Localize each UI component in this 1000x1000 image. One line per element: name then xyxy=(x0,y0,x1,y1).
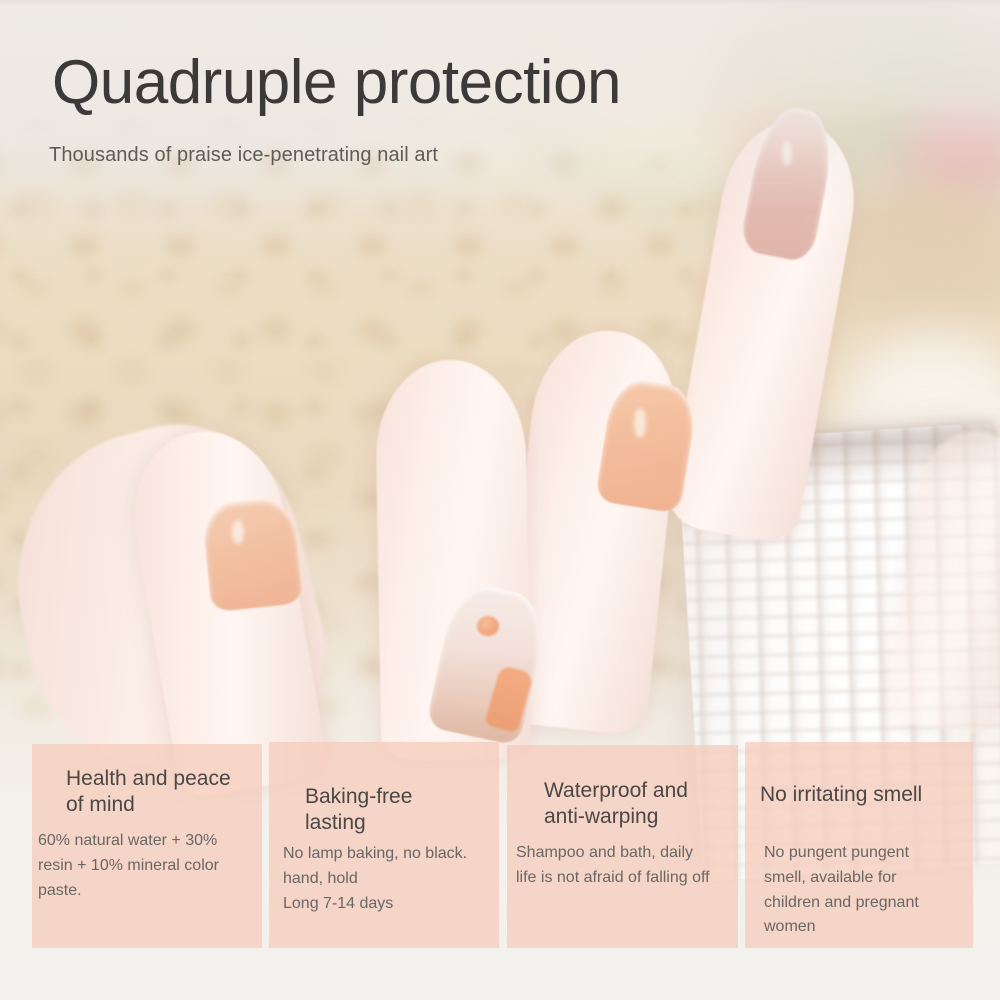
feature-card-title: Baking-free lasting xyxy=(305,784,412,837)
feature-card-title: Health and peace of mind xyxy=(66,766,231,819)
nail-art-dot xyxy=(477,616,499,636)
feature-card-health[interactable]: Health and peace of mind 60% natural wat… xyxy=(32,744,262,948)
page-subtitle: Thousands of praise ice-penetrating nail… xyxy=(49,144,438,167)
nail-highlight-middle xyxy=(634,408,646,438)
feature-card-waterproof[interactable]: Waterproof and anti-warping Shampoo and … xyxy=(507,745,738,948)
feature-card-title: Waterproof and anti-warping xyxy=(544,778,688,831)
feature-card-body: 60% natural water + 30% resin + 10% mine… xyxy=(38,829,219,903)
nail-highlight-pinky xyxy=(232,520,244,544)
top-edge-line xyxy=(0,0,1000,6)
feature-card-title: No irritating smell xyxy=(760,782,922,808)
feature-card-body: Shampoo and bath, daily life is not afra… xyxy=(516,841,710,891)
feature-card-body: No pungent pungent smell, available for … xyxy=(764,841,919,940)
feature-card-baking-free[interactable]: Baking-free lasting No lamp baking, no b… xyxy=(269,742,499,948)
product-promo-poster: Quadruple protection Thousands of praise… xyxy=(0,0,1000,1000)
page-title: Quadruple protection xyxy=(52,52,621,114)
feature-card-body: No lamp baking, no black. hand, hold Lon… xyxy=(283,842,467,916)
feature-card-no-smell[interactable]: No irritating smell No pungent pungent s… xyxy=(745,742,973,948)
